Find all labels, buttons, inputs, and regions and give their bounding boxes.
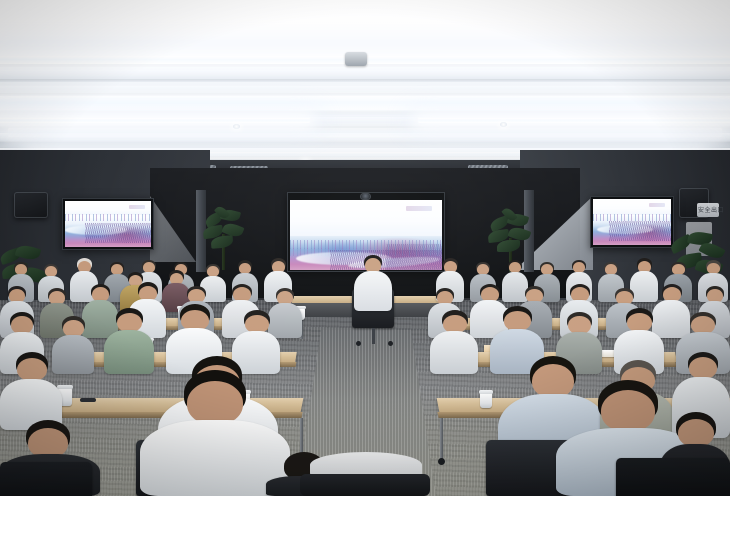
screen-watermark xyxy=(406,206,432,211)
desk-microphone xyxy=(80,398,96,402)
ceiling-light-fixture xyxy=(0,96,730,110)
cup-lid xyxy=(479,390,493,394)
smoke-detector-icon xyxy=(345,52,367,66)
attendee xyxy=(430,310,478,374)
foreground-chair-corner-left xyxy=(0,462,92,496)
photo-canvas: 安全出口 xyxy=(0,0,730,548)
chair-leg xyxy=(372,328,375,344)
conference-room-photograph: 安全出口 xyxy=(0,0,730,496)
ceiling-light-fixture xyxy=(0,118,310,123)
chair-caster xyxy=(438,458,445,465)
ceiling-spotlight xyxy=(500,122,507,127)
table-leg xyxy=(440,418,443,462)
foreground-chair-corner-right xyxy=(616,458,730,496)
paper-cup xyxy=(480,392,492,408)
wall-speaker-left xyxy=(14,192,48,218)
presenter xyxy=(352,255,394,313)
right-screen-watermark xyxy=(649,203,665,207)
screen-camera-icon xyxy=(361,194,370,199)
left-screen-watermark xyxy=(129,205,145,209)
chair-caster xyxy=(356,341,361,346)
ceiling-light-fixture xyxy=(8,128,722,137)
attendee xyxy=(0,352,62,430)
attendee xyxy=(104,308,154,374)
ceiling-spotlight xyxy=(233,124,240,129)
chair-caster xyxy=(388,341,393,346)
left-screen[interactable] xyxy=(65,201,151,247)
ceiling-light-fixture xyxy=(418,118,730,123)
right-screen[interactable] xyxy=(593,199,671,245)
letterbox-bottom xyxy=(0,496,730,548)
empty-chair xyxy=(300,452,430,496)
exit-sign-text: 安全出口 xyxy=(698,205,724,214)
